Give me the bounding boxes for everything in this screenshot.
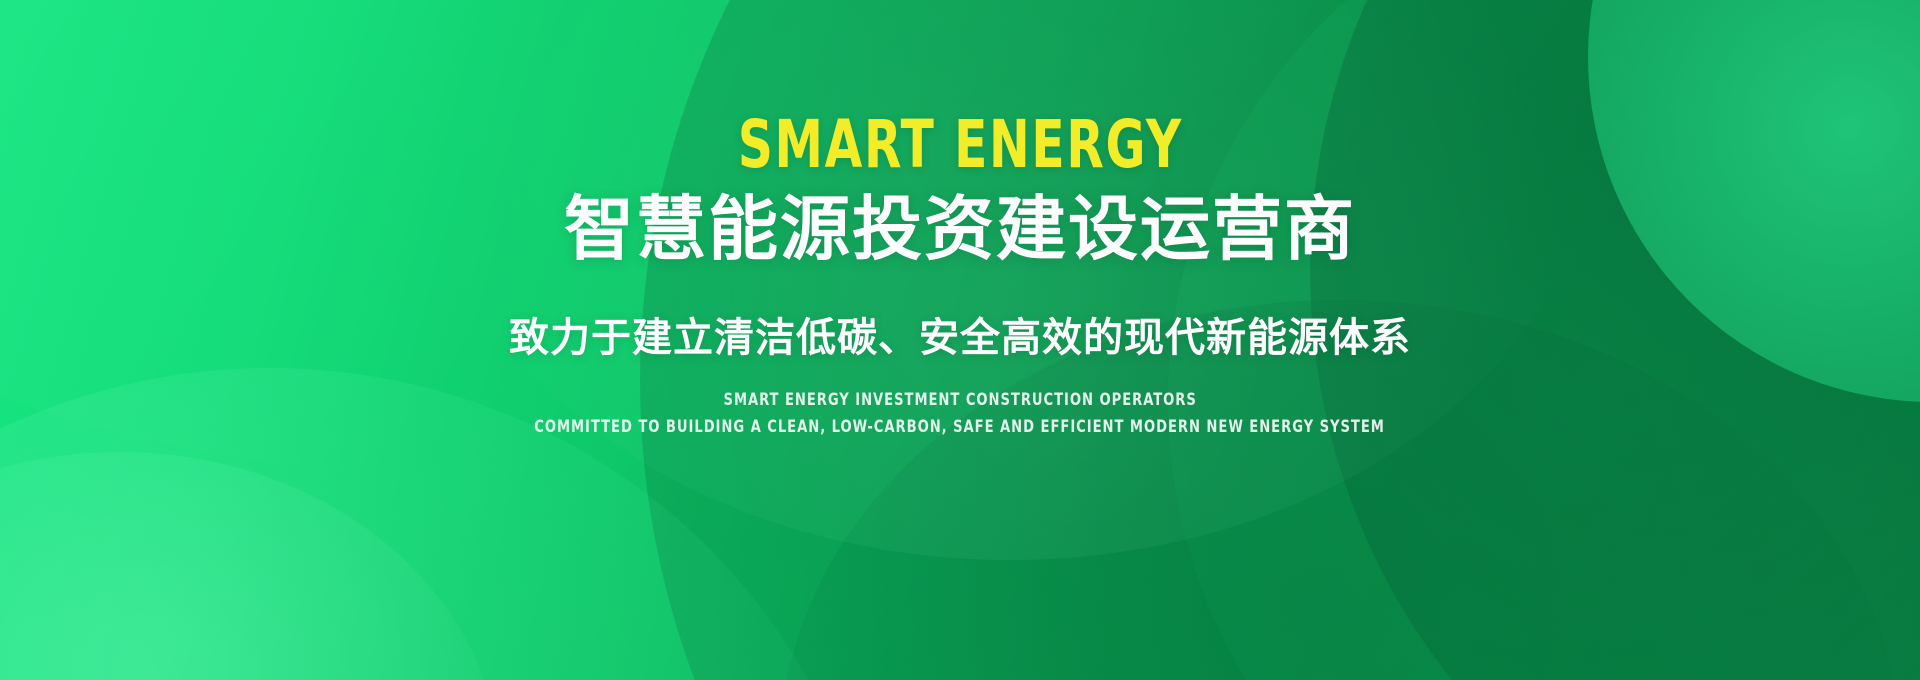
banner-title-chinese: 智慧能源投资建设运营商: [564, 190, 1356, 268]
banner-subtitle-chinese: 致力于建立清洁低碳、安全高效的现代新能源体系: [509, 314, 1411, 362]
banner-subtitle-english-line-1: SMART ENERGY INVESTMENT CONSTRUCTION OPE…: [723, 388, 1196, 413]
banner-title-english: SMART ENERGY: [738, 112, 1183, 178]
banner-subtitle-english-line-2: COMMITTED TO BUILDING A CLEAN, LOW-CARBO…: [535, 415, 1386, 440]
hero-banner: SMART ENERGY 智慧能源投资建设运营商 致力于建立清洁低碳、安全高效的…: [0, 0, 1920, 680]
banner-content: SMART ENERGY 智慧能源投资建设运营商 致力于建立清洁低碳、安全高效的…: [0, 0, 1920, 680]
